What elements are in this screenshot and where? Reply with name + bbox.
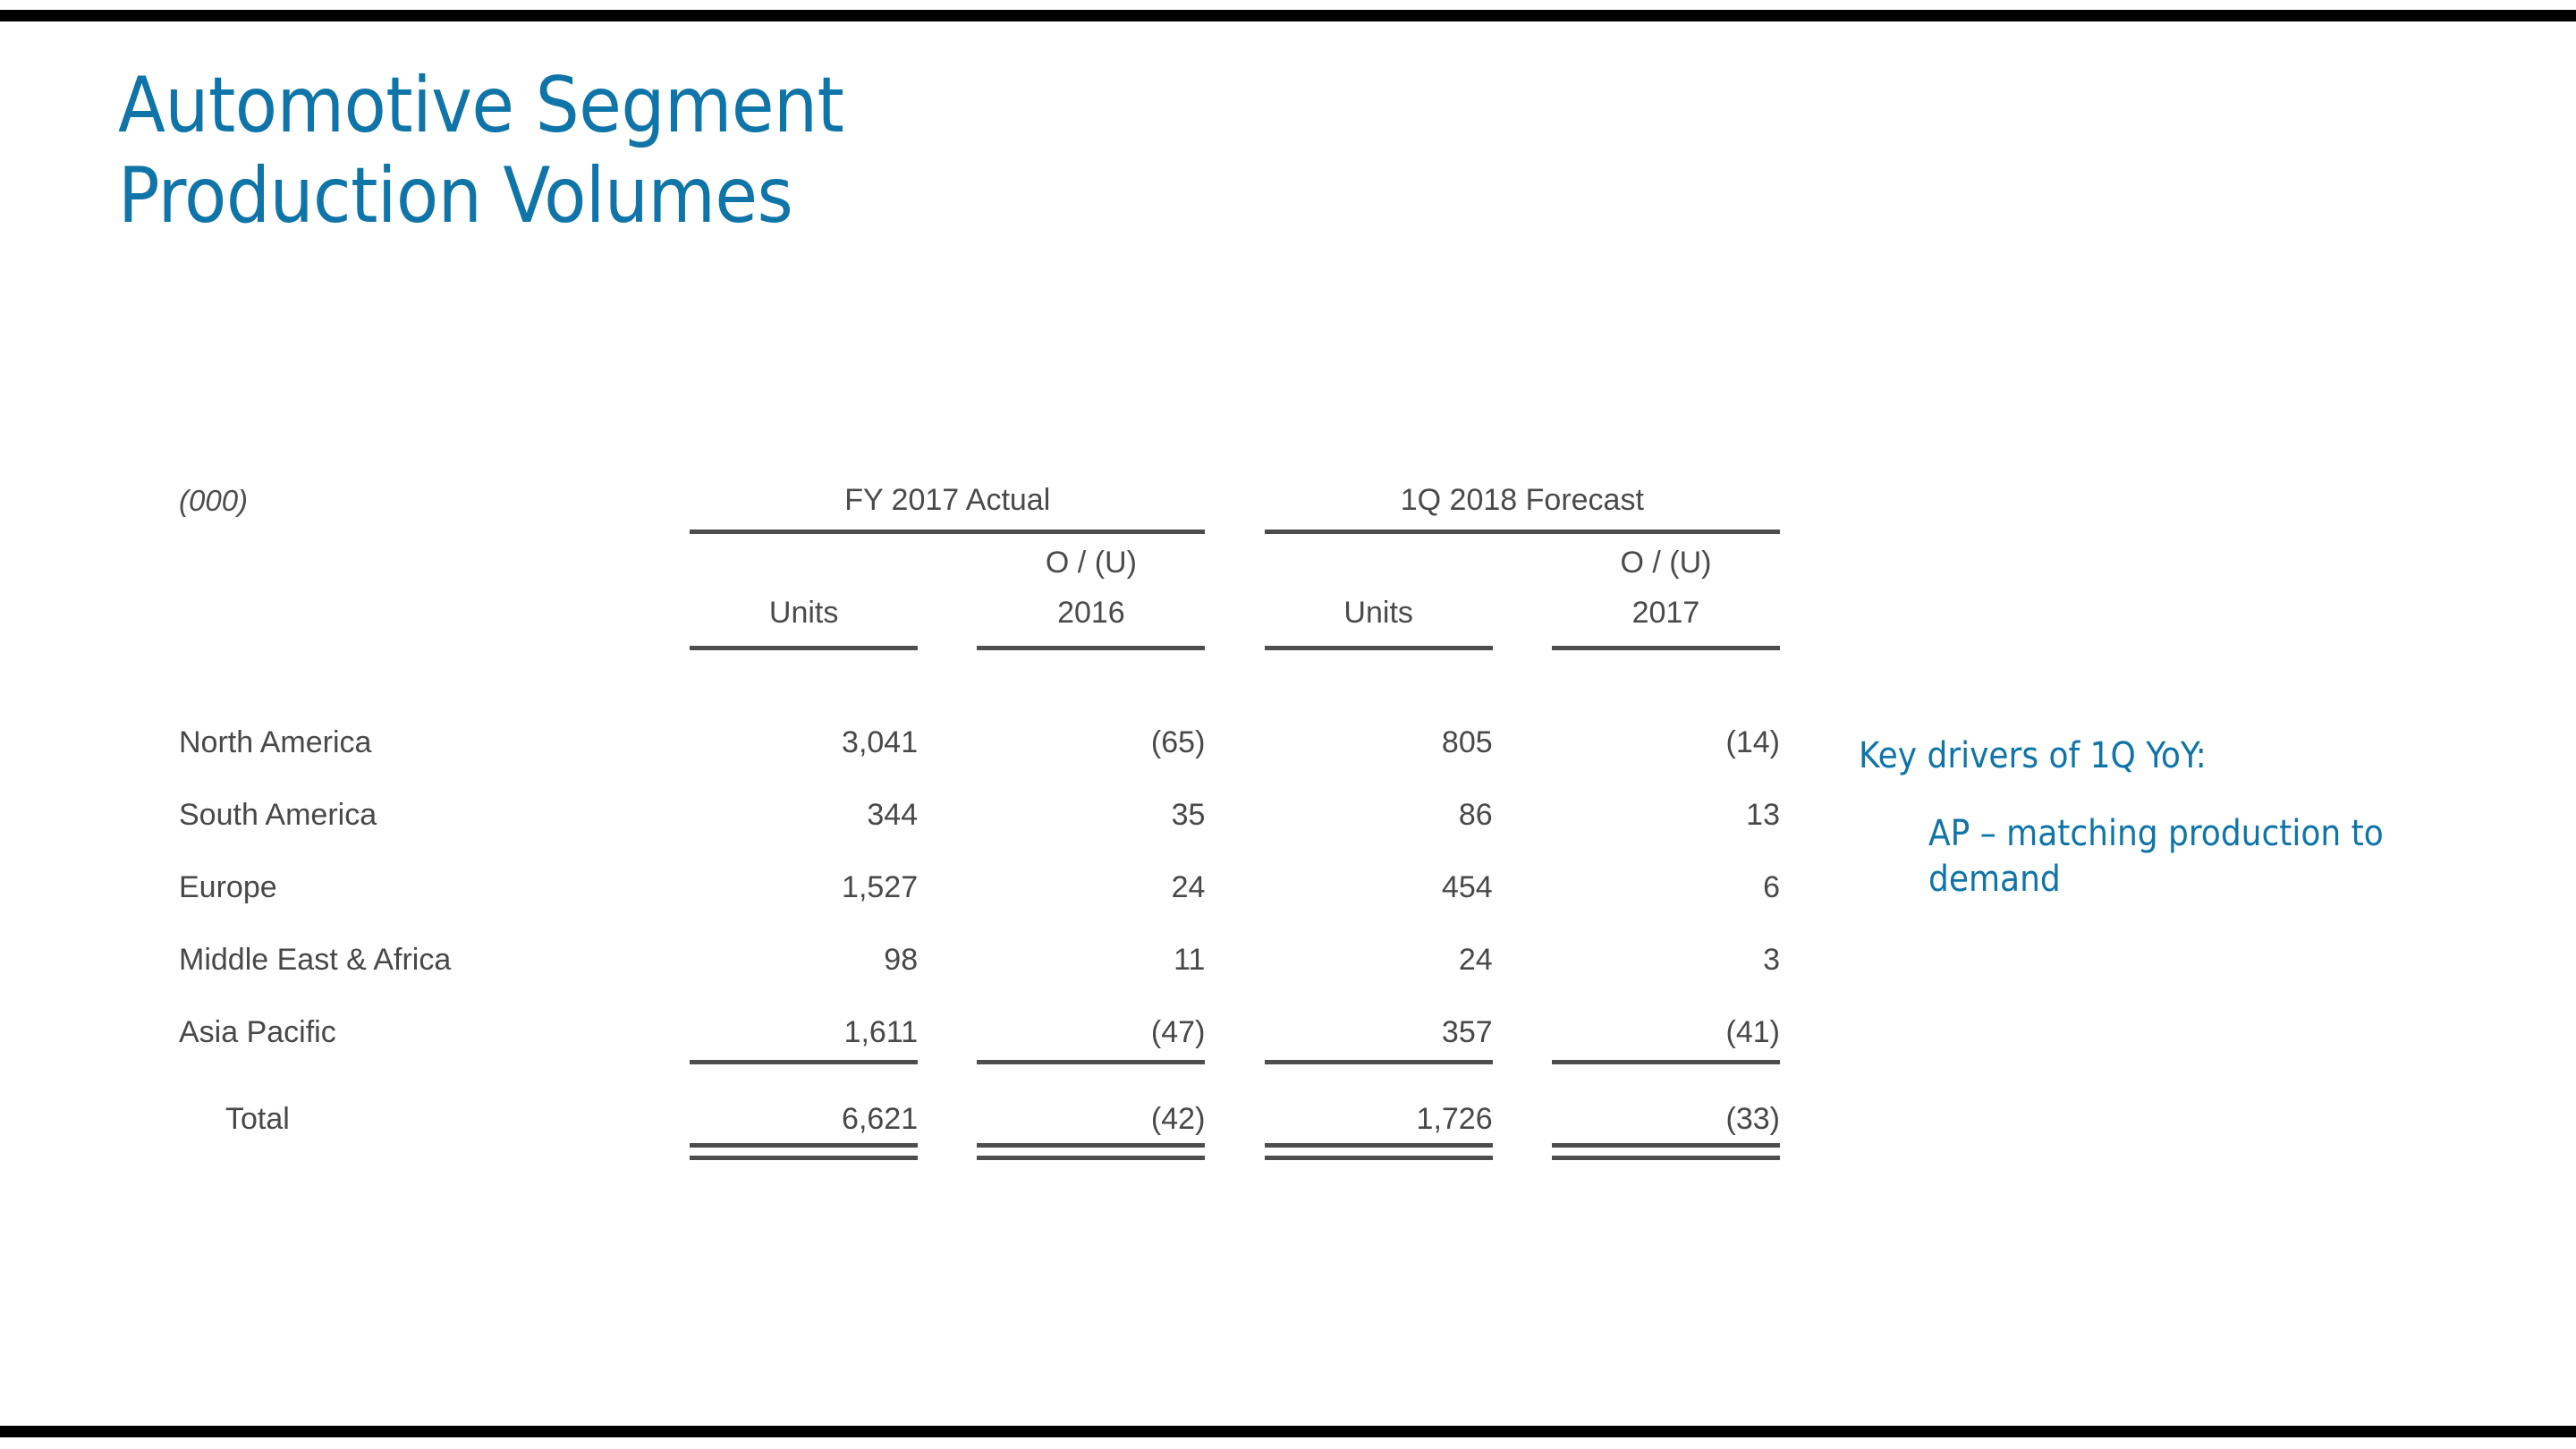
page-title-line-1: Automotive Segment bbox=[118, 61, 1370, 151]
column-rule-fy2017-ou bbox=[977, 631, 1205, 650]
page-title: Automotive Segment Production Volumes bbox=[118, 61, 1370, 241]
subheader-1q-ou: O / (U) bbox=[1552, 534, 1780, 580]
subheader-1q-units: Units bbox=[1265, 580, 1493, 631]
production-volumes-table: (000) FY 2017 Actual 1Q 2018 Forecast bbox=[179, 483, 1780, 1160]
key-drivers-callout: Key drivers of 1Q YoY: AP – matching pro… bbox=[1859, 733, 2485, 903]
cell-mea-1q-ou: 3 bbox=[1552, 905, 1780, 978]
cell-mea-fy2017-units: 98 bbox=[690, 905, 918, 978]
cell-total-1q-ou: (33) bbox=[1552, 1064, 1780, 1137]
cell-total-1q-units: 1,726 bbox=[1265, 1064, 1493, 1137]
group-header-1q2018: 1Q 2018 Forecast bbox=[1265, 483, 1780, 518]
subtotal-rule-fy2017-units bbox=[690, 1050, 918, 1064]
cell-north-america-fy2017-units: 3,041 bbox=[690, 688, 918, 760]
page-title-line-2: Production Volumes bbox=[118, 151, 1370, 241]
production-volumes-table-wrap: (000) FY 2017 Actual 1Q 2018 Forecast bbox=[179, 483, 1789, 1160]
cell-south-america-1q-ou: 13 bbox=[1552, 760, 1780, 833]
cell-north-america-fy2017-ou: (65) bbox=[977, 688, 1205, 760]
cell-north-america-1q-ou: (14) bbox=[1552, 688, 1780, 760]
total-double-rule-fy2017-units bbox=[690, 1137, 918, 1160]
table-total-row: Total 6,621 (42) 1,726 (33) bbox=[179, 1064, 1780, 1137]
cell-asia-pacific-1q-ou: (41) bbox=[1552, 978, 1780, 1050]
table-subheader-row: Units 2016 Units 2017 bbox=[179, 580, 1780, 631]
units-note: (000) bbox=[179, 483, 690, 518]
table-row: North America 3,041 (65) 805 (14) bbox=[179, 688, 1780, 760]
cell-europe-1q-units: 454 bbox=[1265, 833, 1493, 905]
group-rule-fy2017 bbox=[690, 518, 1205, 534]
cell-mea-1q-units: 24 bbox=[1265, 905, 1493, 978]
row-label-south-america: South America bbox=[179, 760, 690, 833]
group-rule-1q2018 bbox=[1265, 518, 1780, 534]
cell-asia-pacific-1q-units: 357 bbox=[1265, 978, 1493, 1050]
cell-south-america-1q-units: 86 bbox=[1265, 760, 1493, 833]
column-rule-1q-units bbox=[1265, 631, 1493, 650]
cell-south-america-fy2017-units: 344 bbox=[690, 760, 918, 833]
total-double-rule-1q-ou bbox=[1552, 1137, 1780, 1160]
cell-total-fy2017-units: 6,621 bbox=[690, 1064, 918, 1137]
cell-north-america-1q-units: 805 bbox=[1265, 688, 1493, 760]
subheader-fy2017-ou: O / (U) bbox=[977, 534, 1205, 580]
table-subtotal-rule-row bbox=[179, 1050, 1780, 1064]
subheader-1q-units-blank bbox=[1265, 534, 1493, 580]
subtotal-rule-fy2017-ou bbox=[977, 1050, 1205, 1064]
cell-europe-fy2017-units: 1,527 bbox=[690, 833, 918, 905]
table-row: Europe 1,527 24 454 6 bbox=[179, 833, 1780, 905]
row-label-middle-east-africa: Middle East & Africa bbox=[179, 905, 690, 978]
cell-mea-fy2017-ou: 11 bbox=[977, 905, 1205, 978]
table-row: Asia Pacific 1,611 (47) 357 (41) bbox=[179, 978, 1780, 1050]
row-label-north-america: North America bbox=[179, 688, 690, 760]
subheader-fy2017-units: Units bbox=[690, 580, 918, 631]
total-double-rule-fy2017-ou bbox=[977, 1137, 1205, 1160]
key-drivers-bullet: AP – matching production to demand bbox=[1928, 811, 2411, 902]
subheader-fy2017-2016: 2016 bbox=[977, 580, 1205, 631]
cell-asia-pacific-fy2017-units: 1,611 bbox=[690, 978, 918, 1050]
table-group-rule-row bbox=[179, 518, 1780, 534]
column-rule-1q-ou bbox=[1552, 631, 1780, 650]
table-row: Middle East & Africa 98 11 24 3 bbox=[179, 905, 1780, 978]
total-double-rule-1q-units bbox=[1265, 1137, 1493, 1160]
subheader-fy2017-units-blank bbox=[690, 534, 918, 580]
table-total-double-rule-row bbox=[179, 1137, 1780, 1160]
row-label-total: Total bbox=[179, 1064, 690, 1137]
cell-total-fy2017-ou: (42) bbox=[977, 1064, 1205, 1137]
cell-asia-pacific-fy2017-ou: (47) bbox=[977, 978, 1205, 1050]
table-column-rule-row bbox=[179, 631, 1780, 650]
top-black-bar bbox=[0, 10, 2576, 21]
row-label-europe: Europe bbox=[179, 833, 690, 905]
table-spacer-row bbox=[179, 650, 1780, 688]
cell-europe-fy2017-ou: 24 bbox=[977, 833, 1205, 905]
table-row: South America 344 35 86 13 bbox=[179, 760, 1780, 833]
group-header-fy2017: FY 2017 Actual bbox=[690, 483, 1205, 518]
cell-south-america-fy2017-ou: 35 bbox=[977, 760, 1205, 833]
subtotal-rule-1q-units bbox=[1265, 1050, 1493, 1064]
key-drivers-heading: Key drivers of 1Q YoY: bbox=[1859, 733, 2485, 779]
slide: Automotive Segment Production Volumes (0… bbox=[0, 0, 2576, 1449]
subtotal-rule-1q-ou bbox=[1552, 1050, 1780, 1064]
row-label-asia-pacific: Asia Pacific bbox=[179, 978, 690, 1050]
table-group-header-row: (000) FY 2017 Actual 1Q 2018 Forecast bbox=[179, 483, 1780, 518]
bottom-black-bar bbox=[0, 1426, 2576, 1437]
cell-europe-1q-ou: 6 bbox=[1552, 833, 1780, 905]
subheader-1q-2017: 2017 bbox=[1552, 580, 1780, 631]
column-rule-fy2017-units bbox=[690, 631, 918, 650]
table-subheader-ou-row: O / (U) O / (U) bbox=[179, 534, 1780, 580]
